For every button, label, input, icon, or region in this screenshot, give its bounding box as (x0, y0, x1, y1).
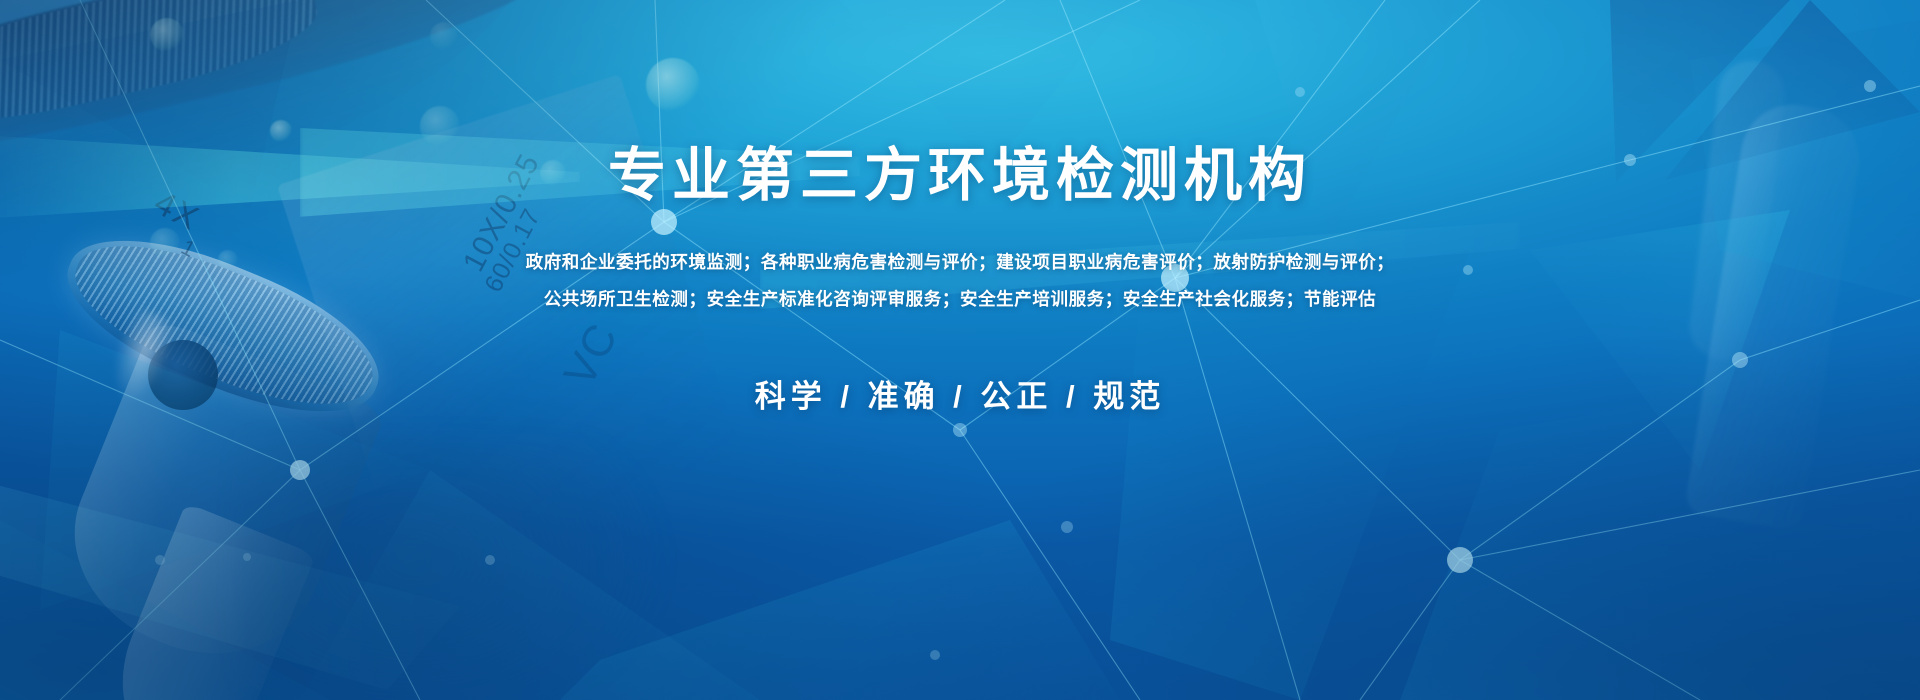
service-description: 政府和企业委托的环境监测；各种职业病危害检测与评价；建设项目职业病危害评价；放射… (526, 245, 1395, 317)
tagline: 科学 / 准确 / 公正 / 规范 (755, 371, 1166, 416)
service-description-line-1: 政府和企业委托的环境监测；各种职业病危害检测与评价；建设项目职业病危害评价；放射… (526, 245, 1395, 280)
page-title: 专业第三方环境检测机构 (608, 146, 1312, 207)
banner-copy: 专业第三方环境检测机构 政府和企业委托的环境监测；各种职业病危害检测与评价；建设… (0, 0, 1920, 700)
service-description-line-2: 公共场所卫生检测；安全生产标准化咨询评审服务；安全生产培训服务；安全生产社会化服… (526, 282, 1395, 317)
hero-banner: 4X 1 10X/0.25 60/0.17 VC (0, 0, 1920, 700)
